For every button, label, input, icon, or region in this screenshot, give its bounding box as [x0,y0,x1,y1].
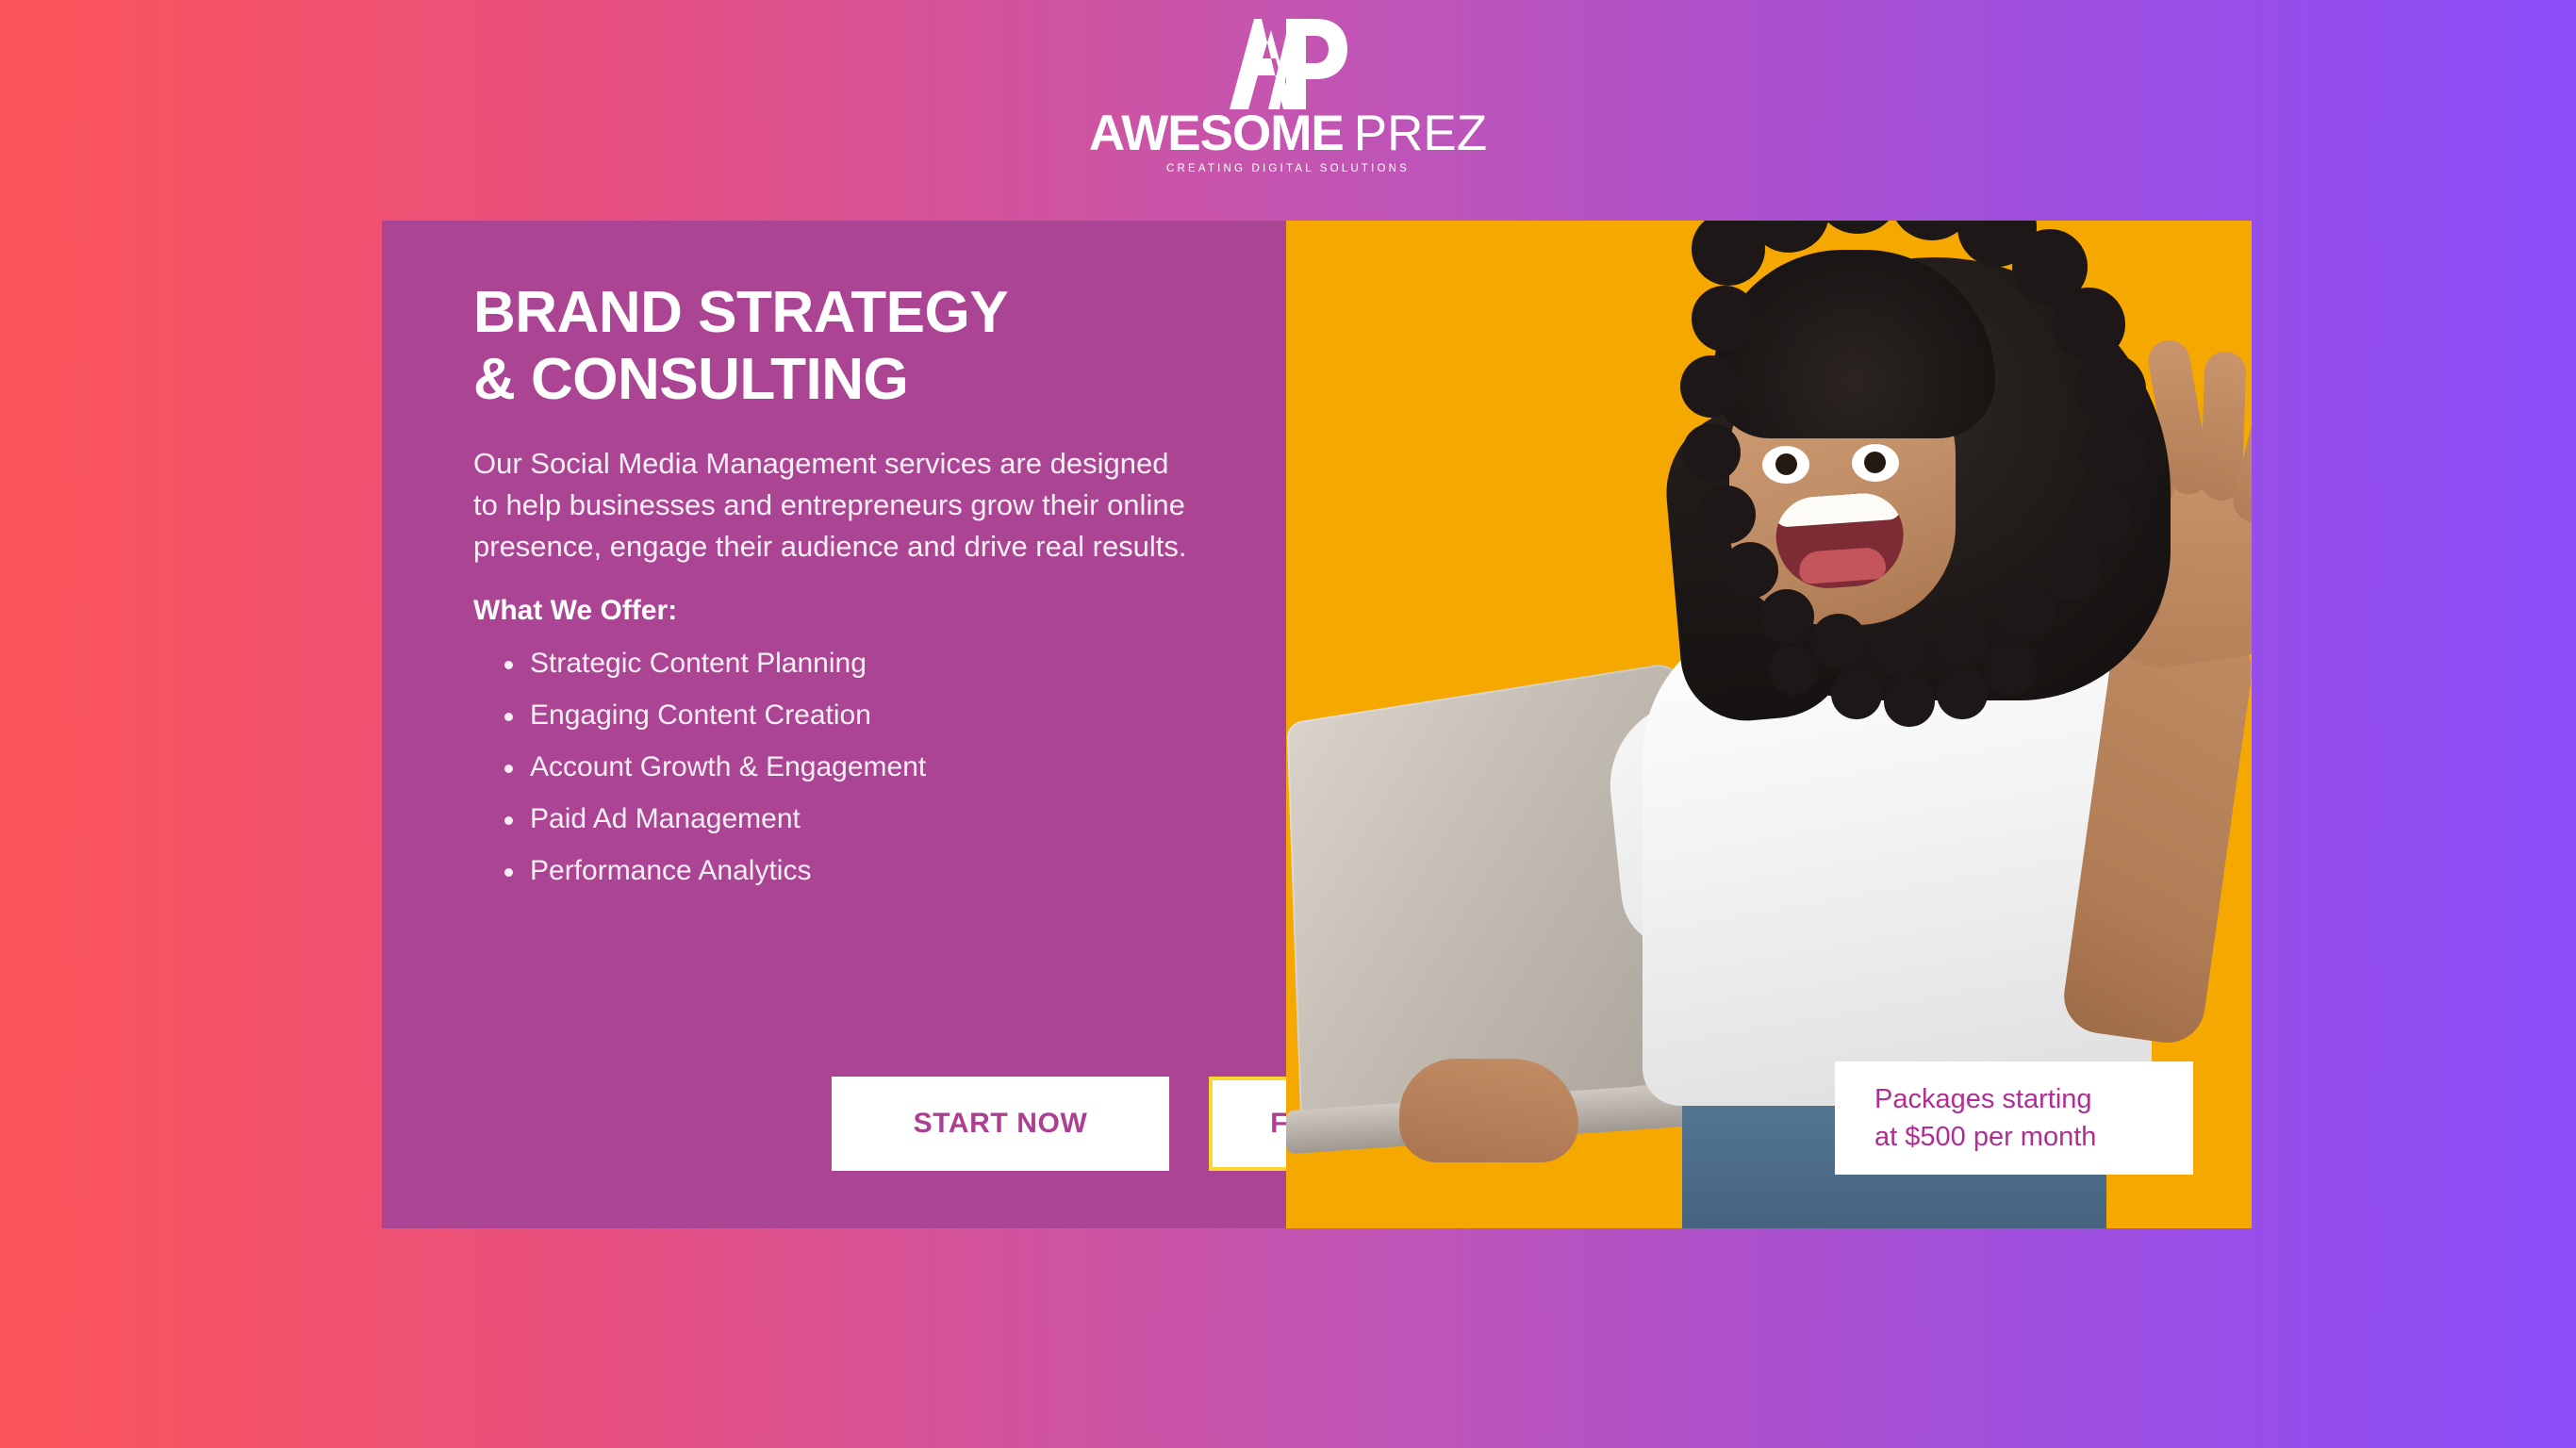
list-item: Performance Analytics [530,857,1220,885]
subject-hair-curl [1722,542,1778,599]
subject-hair-curl [1769,646,1818,695]
subject-hair-curl [2074,354,2146,425]
subject-tongue [1798,547,1887,584]
subject-hair-curl [1871,619,1929,678]
page-title: BRAND STRATEGY & CONSULTING [473,280,1220,413]
price-badge-line-2: at $500 per month [1874,1118,2193,1156]
start-now-button[interactable]: START NOW [832,1077,1169,1171]
subject-hair-curl [1995,580,2056,640]
hero-photo: Packages starting at $500 per month [1286,221,2252,1228]
list-item: Account Growth & Engagement [530,753,1220,782]
logo-tagline: CREATING DIGITAL SOLUTIONS [1166,163,1410,174]
subject-pupil [1775,453,1797,475]
brand-logo[interactable]: AWESOME PREZ CREATING DIGITAL SOLUTIONS [1118,13,1458,174]
subject-hand-lower [1399,1059,1578,1162]
subject-hair-curl [1692,286,1758,352]
offer-heading: What We Offer: [473,595,1220,627]
subject-hair-curl [1931,608,1990,666]
subject-hair-curl [1984,642,2037,695]
price-badge-line-1: Packages starting [1874,1080,2193,1118]
logo-word-secondary: PREZ [1354,108,1487,158]
subject-hair-curl [1937,668,1988,719]
subject-hair-curl [1810,614,1867,670]
subject-pupil [1864,452,1886,473]
price-badge: Packages starting at $500 per month [1835,1061,2193,1175]
subject-hair-curl [1884,676,1935,727]
subject-hair-curl [1759,589,1814,644]
service-card: BRAND STRATEGY & CONSULTING Our Social M… [382,221,2252,1228]
subject-hair-curl [1682,423,1741,482]
subject-hair-curl [2052,288,2125,361]
list-item: Paid Ad Management [530,805,1220,833]
subject-hair-curl [1831,668,1882,719]
subject-hair-curl [1697,485,1756,544]
subject-hair-curl [2080,420,2148,487]
list-item: Strategic Content Planning [530,650,1220,678]
offer-list: Strategic Content Planning Engaging Cont… [473,650,1220,885]
logo-word-primary: AWESOME [1089,108,1344,158]
subject-hair-curl [1680,355,1742,418]
subject-hair-curl [2040,538,2103,601]
intro-paragraph: Our Social Media Management services are… [473,443,1190,568]
logo-wordmark: AWESOME PREZ [1089,108,1487,158]
ap-monogram-icon [1227,13,1349,112]
list-item: Engaging Content Creation [530,701,1220,730]
